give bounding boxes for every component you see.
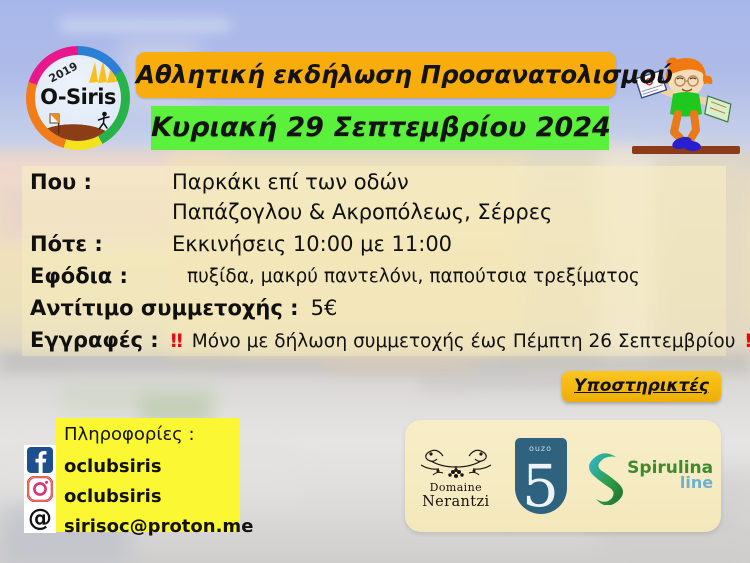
sponsor-domaine-nerantzi[interactable]: Domaine Nerantzi [413, 442, 499, 511]
facebook-icon[interactable] [27, 447, 53, 473]
when-label: Πότε : [30, 232, 103, 256]
fee-label: Αντίτιμο συμμετοχής : [30, 296, 299, 320]
sponsor-name: Domaine Nerantzi [422, 482, 490, 511]
alert-icon-left: ‼ [171, 330, 183, 352]
fee-value: 5€ [311, 296, 338, 320]
where-label: Που : [30, 170, 92, 194]
sponsors-card: Domaine Nerantzi ouzo 5 [405, 420, 721, 532]
registration-label: Εγγραφές : [30, 328, 159, 352]
logo-inner-disc: 2019 O-Siris [35, 55, 121, 141]
ouzo5-shield-icon: ouzo 5 [515, 438, 567, 514]
spirulina-wordmark: Spirulina line [627, 461, 713, 490]
where-value-line2: Παπάζογλου & Ακροπόλεως, Σέρρες [172, 200, 552, 224]
registration-value: Μόνο με δήλωση συμμετοχής έως Πέμπτη 26 … [192, 331, 736, 352]
where-value-line1: Παρκάκι επί των οδών [172, 170, 409, 194]
email-at-icon[interactable]: @ [27, 505, 53, 531]
event-date-banner: Κυριακή 29 Σεπτεμβρίου 2024 [151, 106, 609, 150]
registration-row: Εγγραφές : ‼ Μόνο με δήλωση συμμετοχής έ… [30, 328, 750, 352]
contact-title: Πληροφορίες : [64, 424, 195, 445]
sponsor-name-line2: Nerantzi [422, 494, 490, 510]
control-flag-icon [49, 112, 69, 134]
gear-label: Εφόδια : [30, 264, 128, 288]
event-title-banner: Αθλητική εκδήλωση Προσανατολισμού [136, 52, 616, 98]
sponsor-spirulina-line[interactable]: Spirulina line [582, 447, 713, 505]
logo-year: 2019 [47, 60, 80, 86]
sponsor-name-line1: Domaine [422, 482, 490, 494]
background-blur-patch [60, 18, 230, 32]
sun-icon [87, 58, 121, 84]
instagram-handle[interactable]: oclubsiris [64, 486, 162, 507]
event-details-panel: Που : Παρκάκι επί των οδών Παπάζογλου & … [22, 166, 726, 356]
spirulina-swirl-icon [582, 447, 624, 505]
gear-value: πυξίδα, μακρύ παντελόνι, παπούτσια τρεξί… [187, 266, 640, 287]
social-icon-column: @ [24, 445, 56, 533]
logo-wordmark: O-Siris [35, 85, 121, 109]
ouzo-number: 5 [522, 459, 559, 514]
grapevine-birds-icon [413, 442, 499, 482]
event-poster: 2019 O-Siris [0, 0, 750, 563]
osiris-club-logo: 2019 O-Siris [26, 46, 130, 150]
fee-row: Αντίτιμο συμμετοχής : 5€ [30, 296, 337, 320]
facebook-handle[interactable]: oclubsiris [64, 456, 162, 477]
runner-icon [94, 111, 112, 133]
when-value: Εκκινήσεις 10:00 με 11:00 [172, 232, 452, 256]
contact-info-box: Πληροφορίες : oclubsiris oclubsiris siri… [55, 418, 240, 532]
svg-text:@: @ [28, 505, 52, 531]
email-address[interactable]: sirisoc@proton.me [64, 516, 253, 537]
ouzo-label: ouzo [515, 444, 567, 453]
alert-icon-right: ‼ [746, 330, 750, 352]
instagram-icon[interactable] [27, 476, 53, 502]
supporters-button[interactable]: Υποστηρικτές [562, 371, 721, 402]
sponsor-ouzo-5[interactable]: ouzo 5 [515, 438, 567, 514]
